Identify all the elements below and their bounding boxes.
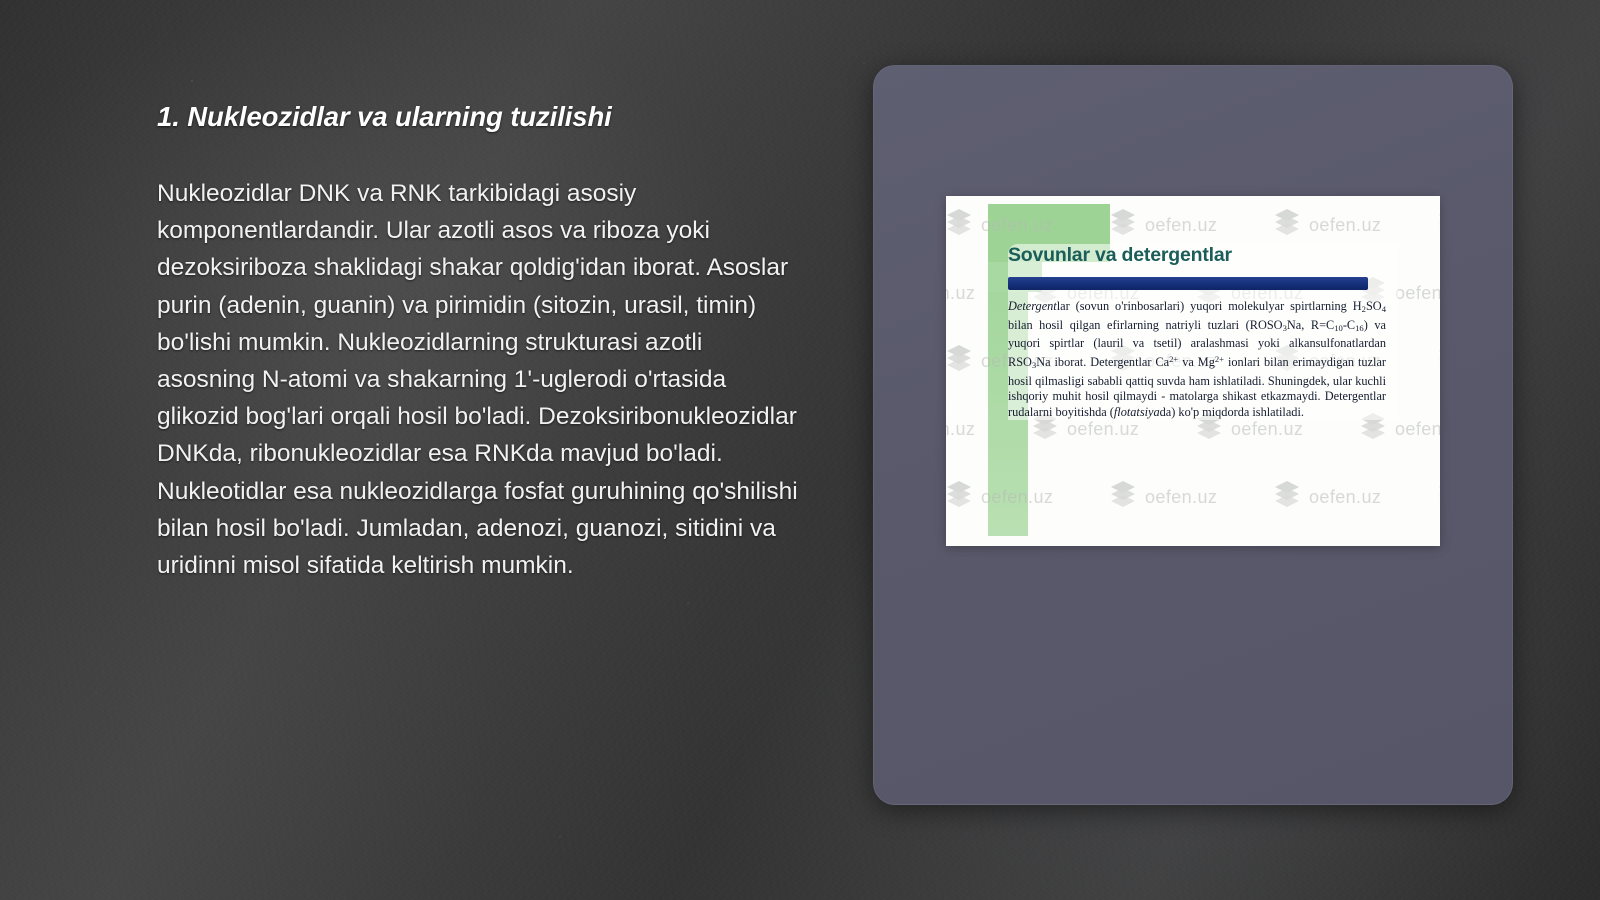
layers-stack-icon (946, 480, 972, 515)
paragraph-run: Detergent (1008, 299, 1057, 313)
watermark-label: oefen.uz (1395, 283, 1440, 304)
watermark-label: oefen.uz (1309, 215, 1381, 236)
layers-stack-icon (1438, 480, 1440, 515)
paragraph-run: va Mg (1178, 355, 1215, 369)
paragraph-run: 2+ (1215, 354, 1224, 364)
layers-stack-icon (1438, 344, 1440, 379)
paragraph-run: -C (1343, 318, 1355, 332)
watermark-label: oefen.uz (981, 215, 1053, 236)
layers-stack-icon (1274, 480, 1300, 515)
layers-stack-icon (1438, 480, 1440, 510)
watermark-item: oefen.uz (1438, 208, 1440, 243)
layers-stack-icon (1110, 208, 1136, 238)
layers-stack-icon (1438, 344, 1440, 374)
watermark-item: oefen.uz (1438, 480, 1440, 515)
layers-stack-icon (946, 208, 972, 243)
watermark-item: oefen.uz (1274, 208, 1438, 243)
paragraph-run: 10 (1334, 323, 1343, 333)
watermark-label: oefen.uz (981, 487, 1053, 508)
paragraph-run: 2+ (1169, 354, 1178, 364)
layers-stack-icon (1274, 208, 1300, 238)
watermark-item: oefen.uz (1110, 208, 1274, 243)
watermark-item: oefen.uz (1274, 480, 1438, 515)
watermark-item: oefen.uz (946, 480, 1110, 515)
watermark-label: oefen.uz (1231, 419, 1303, 440)
paragraph-run: lar (sovun o'rinbosarlari) yuqori moleku… (1057, 299, 1362, 313)
watermark-label: oefen.uz (946, 419, 975, 440)
layers-stack-icon (1438, 208, 1440, 243)
page-title: 1. Nukleozidlar va ularning tuzilishi (157, 100, 817, 133)
watermark-label: oefen.uz (1309, 487, 1381, 508)
slide-text-column: 1. Nukleozidlar va ularning tuzilishi Nu… (157, 100, 817, 584)
paragraph-run: bilan hosil qilgan efirlarning natriyli … (1008, 318, 1283, 332)
paragraph-run: da) ko'p miqdorda ishlatiladi. (1160, 405, 1304, 419)
watermark-item: oefen.uz (1110, 480, 1274, 515)
paragraph-run: Na, R=C (1287, 318, 1334, 332)
layers-stack-icon (946, 208, 972, 238)
watermark-row: oefen.uzoefen.uzoefen.uzoefen.uz (946, 208, 1440, 243)
paragraph-run: Na iborat. Detergentlar Ca (1036, 355, 1169, 369)
watermark-item: oefen.uz (1438, 344, 1440, 379)
watermark-label: oefen.uz (1145, 215, 1217, 236)
watermark-label: oefen.uz (1067, 419, 1139, 440)
watermark-row: oefen.uzoefen.uzoefen.uzoefen.uz (946, 480, 1440, 515)
document-image-card[interactable]: oefen.uzoefen.uzoefen.uzoefen.uzoefen.uz… (946, 196, 1440, 546)
layers-stack-icon (946, 344, 972, 379)
document-text-block: Sovunlar va detergentlar Detergentlar (s… (1008, 244, 1398, 420)
paragraph-run: 16 (1355, 323, 1364, 333)
layers-stack-icon (946, 480, 972, 510)
watermark-label: oefen.uz (1145, 487, 1217, 508)
layers-stack-icon (1110, 480, 1136, 515)
layers-stack-icon (1274, 208, 1300, 243)
document-heading-rule (1008, 277, 1368, 290)
layers-stack-icon (1110, 208, 1136, 243)
document-paragraph: Detergentlar (sovun o'rinbosarlari) yuqo… (1008, 299, 1386, 420)
layers-stack-icon (1274, 480, 1300, 510)
watermark-item: oefen.uz (946, 208, 1110, 243)
layers-stack-icon (1110, 480, 1136, 510)
watermark-label: oefen.uz (946, 283, 975, 304)
paragraph-run: flotatsiya (1114, 405, 1160, 419)
layers-stack-icon (946, 344, 972, 374)
watermark-label: oefen.uz (1395, 419, 1440, 440)
document-heading: Sovunlar va detergentlar (1008, 244, 1398, 267)
paragraph-run: SO (1366, 299, 1382, 313)
layers-stack-icon (1438, 208, 1440, 238)
slide-body-text: Nukleozidlar DNK va RNK tarkibidagi asos… (157, 175, 805, 584)
image-panel[interactable]: oefen.uzoefen.uzoefen.uzoefen.uzoefen.uz… (873, 65, 1513, 805)
paragraph-run: 4 (1382, 304, 1386, 314)
